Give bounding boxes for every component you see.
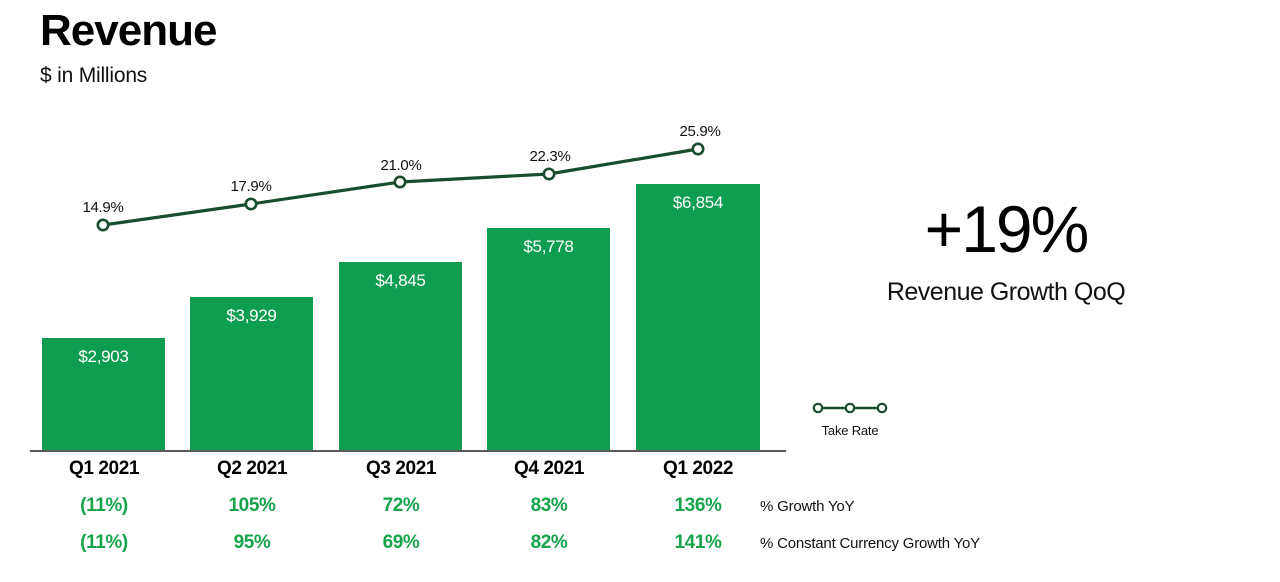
chart-plot-area: $2,903 $3,929 $4,845 $5,778 $6,854 14.9%… [0, 0, 800, 460]
revenue-growth-callout: +19% Revenue Growth QoQ [846, 196, 1166, 307]
table-cell: 72% [339, 495, 463, 517]
bar-value-label: $6,854 [636, 193, 760, 213]
table-cell: Q1 2022 [636, 458, 760, 480]
table-cell: Q1 2021 [42, 458, 166, 480]
bar-q1-2022[interactable]: $6,854 [636, 184, 760, 450]
table-row-period: Q1 2021 Q2 2021 Q3 2021 Q4 2021 Q1 2022 [0, 458, 1280, 495]
table-cell: Q3 2021 [339, 458, 463, 480]
table-cell: 136% [636, 495, 760, 517]
bar-value-label: $4,845 [339, 271, 462, 291]
table-cell: 69% [339, 532, 463, 554]
callout-value: +19% [846, 196, 1166, 262]
bar-value-label: $2,903 [42, 347, 165, 367]
table-cell: (11%) [42, 532, 166, 554]
data-point-marker [395, 177, 405, 187]
line-with-circles-icon [810, 400, 890, 416]
point-label-q2-2021: 17.9% [230, 178, 271, 195]
table-row-growth-yoy: (11%) 105% 72% 83% 136% % Growth YoY [0, 495, 1280, 532]
table-cell: 83% [487, 495, 611, 517]
bar-q4-2021[interactable]: $5,778 [487, 228, 610, 450]
table-row-label: % Constant Currency Growth YoY [760, 535, 980, 552]
data-point-marker [98, 220, 108, 230]
table-cell: 95% [190, 532, 314, 554]
metrics-table: Q1 2021 Q2 2021 Q3 2021 Q4 2021 Q1 2022 … [0, 458, 1280, 569]
callout-label: Revenue Growth QoQ [846, 278, 1166, 307]
bar-q1-2021[interactable]: $2,903 [42, 338, 165, 450]
bar-q3-2021[interactable]: $4,845 [339, 262, 462, 450]
table-row-label: % Growth YoY [760, 498, 854, 515]
table-cell: (11%) [42, 495, 166, 517]
table-row-constant-currency-growth-yoy: (11%) 95% 69% 82% 141% % Constant Curren… [0, 532, 1280, 569]
bar-q2-2021[interactable]: $3,929 [190, 297, 313, 450]
data-point-marker [693, 144, 703, 154]
table-cell: 82% [487, 532, 611, 554]
bar-value-label: $3,929 [190, 306, 313, 326]
chart-legend: Take Rate [795, 400, 905, 438]
point-label-q1-2022: 25.9% [679, 123, 720, 140]
legend-label-take-rate: Take Rate [795, 423, 905, 438]
point-label-q1-2021: 14.9% [82, 199, 123, 216]
x-axis-line [30, 450, 786, 452]
point-label-q4-2021: 22.3% [529, 148, 570, 165]
data-point-marker [544, 169, 554, 179]
point-label-q3-2021: 21.0% [380, 157, 421, 174]
table-cell: 141% [636, 532, 760, 554]
table-cell: Q4 2021 [487, 458, 611, 480]
table-cell: 105% [190, 495, 314, 517]
data-point-marker [246, 199, 256, 209]
bar-value-label: $5,778 [487, 237, 610, 257]
table-cell: Q2 2021 [190, 458, 314, 480]
